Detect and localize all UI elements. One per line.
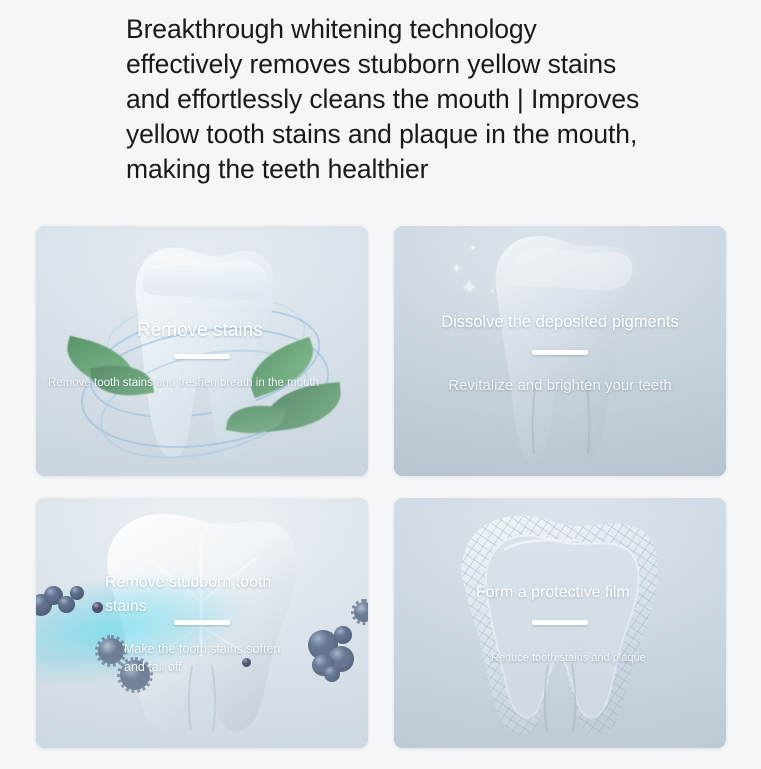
card-text-overlay: Remove stains Remove tooth stains and fr… (36, 226, 368, 476)
card-subtitle: Revitalize and brighten your teeth (394, 376, 726, 396)
card-title: Form a protective film (476, 582, 630, 604)
feature-card-protective-film[interactable]: Form a protective film Reduce tooth stai… (394, 498, 726, 748)
card-text-overlay: Remove stubborn tooth stains Make the to… (36, 498, 368, 748)
card-subtitle: Reduce tooth stains and plaque (491, 651, 646, 666)
card-text-overlay: Dissolve the deposited pigments Revitali… (394, 226, 726, 476)
card-divider (532, 350, 588, 355)
card-subtitle: Remove tooth stains and freshen breath i… (48, 375, 360, 391)
card-divider (174, 620, 230, 625)
feature-card-dissolve-pigments[interactable]: ✦ ✦ ✦ ✦ Dissolve the deposited pigments … (394, 226, 726, 476)
card-divider (174, 354, 230, 359)
card-text-overlay: Form a protective film Reduce tooth stai… (394, 498, 726, 748)
feature-card-grid: Remove stains Remove tooth stains and fr… (36, 226, 726, 748)
card-subtitle: Make the tooth stains soften and fall of… (124, 640, 294, 676)
page-headline: Breakthrough whitening technology effect… (126, 12, 646, 187)
card-divider (532, 620, 588, 625)
feature-card-remove-stains[interactable]: Remove stains Remove tooth stains and fr… (36, 226, 368, 476)
card-title: Remove stubborn tooth stains (105, 571, 285, 619)
card-title: Dissolve the deposited pigments (394, 311, 726, 333)
feature-card-remove-stubborn-stains[interactable]: Remove stubborn tooth stains Make the to… (36, 498, 368, 748)
card-title: Remove stains (137, 318, 263, 343)
